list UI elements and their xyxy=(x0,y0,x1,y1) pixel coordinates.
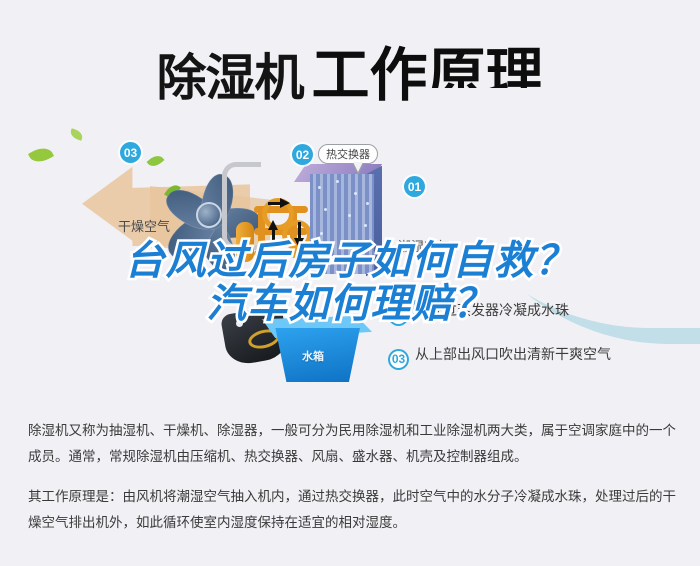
step-line-02: 02气经过蒸发器冷凝成水珠 xyxy=(388,300,569,326)
heat-exchanger-icon xyxy=(296,164,388,280)
page-root: 除湿机工作原理 xyxy=(0,0,700,566)
step-line-text-02: 气经过蒸发器冷凝成水珠 xyxy=(415,303,569,319)
step-line-badge-02: 02 xyxy=(388,305,409,326)
label-humid-air: 潮湿空气 xyxy=(398,236,450,255)
step-badge-01: 01 xyxy=(404,176,425,197)
callout-heat-exchanger: 热交换器 xyxy=(318,144,378,164)
label-dry-air: 干燥空气 xyxy=(118,216,170,235)
water-tank-icon: 水箱 xyxy=(262,314,378,388)
step-line-badge-03: 03 xyxy=(388,349,409,370)
compressor-highlight xyxy=(236,320,243,327)
dehumidifier-diagram: 水箱 03 干燥空气 02 热交换器 01 潮湿空气 02气经过蒸发器冷凝成水珠… xyxy=(0,118,700,398)
leaf-icon xyxy=(69,128,84,141)
swoosh-mask xyxy=(410,88,700,328)
step-line-text-03: 从上部出风口吹出清新干爽空气 xyxy=(415,347,611,363)
article-body: 除湿机又称为抽湿机、干燥机、除湿器，一般可分为民用除湿机和工业除湿机两大类，属于… xyxy=(28,418,676,550)
leaf-icon xyxy=(147,152,165,169)
step-badge-03: 03 xyxy=(120,142,141,163)
callout-tail xyxy=(352,163,364,175)
title-part-1: 除湿机 xyxy=(156,49,303,107)
step-badge-02: 02 xyxy=(292,144,313,165)
step-line-03: 03从上部出风口吹出清新干爽空气 xyxy=(388,344,611,370)
body-paragraph-2: 其工作原理是：由风机将潮湿空气抽入机内，通过热交换器，此时空气中的水分子冷凝成水… xyxy=(28,484,676,536)
leaf-icon xyxy=(28,144,54,167)
body-paragraph-1: 除湿机又称为抽湿机、干燥机、除湿器，一般可分为民用除湿机和工业除湿机两大类，属于… xyxy=(28,418,676,470)
water-tank-label: 水箱 xyxy=(302,348,324,364)
